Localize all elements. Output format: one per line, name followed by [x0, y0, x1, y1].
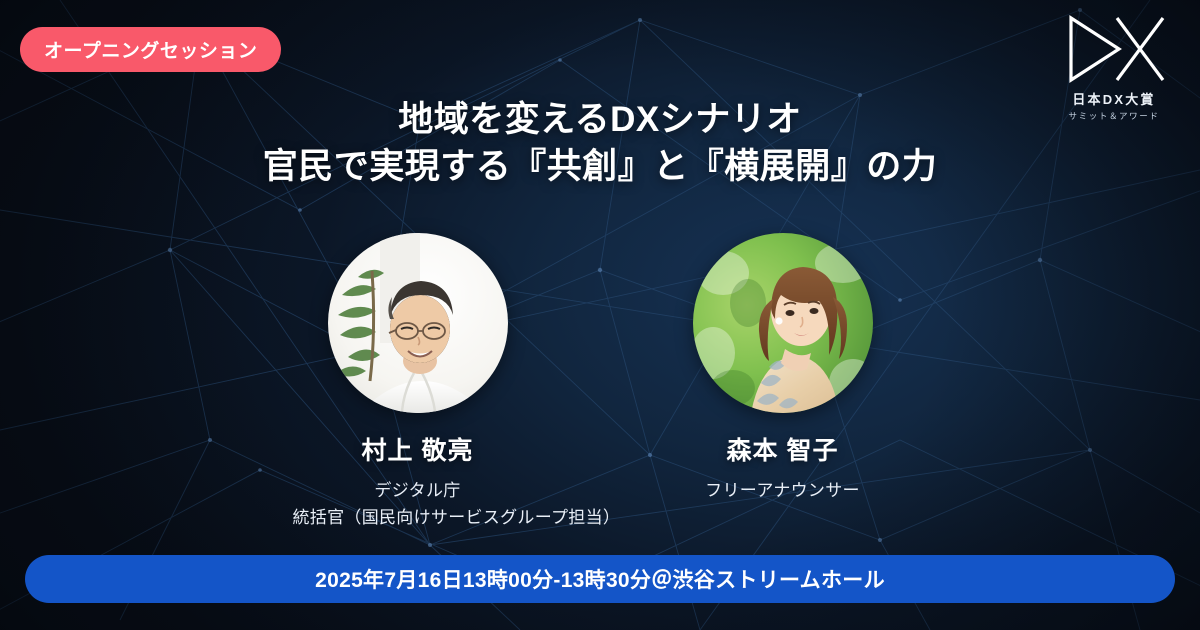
speaker-card: 村上 敬亮 デジタル庁 統括官（国民向けサービスグループ担当）: [293, 233, 543, 531]
speaker-role: フリーアナウンサー: [658, 477, 908, 504]
speaker-role-line1: フリーアナウンサー: [658, 477, 908, 504]
session-title: 地域を変えるDXシナリオ 官民で実現する『共創』と『横展開』の力: [0, 96, 1200, 190]
session-title-line2: 官民で実現する『共創』と『横展開』の力: [0, 143, 1200, 190]
event-datetime-text: 2025年7月16日13時00分-13時30分＠渋谷ストリームホール: [315, 564, 885, 594]
speaker-name: 村上 敬亮: [293, 431, 543, 467]
speaker-role: デジタル庁 統括官（国民向けサービスグループ担当）: [293, 477, 543, 531]
session-title-line1: 地域を変えるDXシナリオ: [0, 96, 1200, 143]
speaker-role-line1: デジタル庁: [293, 477, 543, 504]
dx-monogram-icon: [1059, 12, 1169, 86]
session-badge: オープニングセッション: [20, 27, 281, 72]
session-badge-label: オープニングセッション: [44, 36, 257, 63]
speaker-role-line2: 統括官（国民向けサービスグループ担当）: [293, 504, 543, 531]
speaker-photo-murakami: [328, 233, 508, 413]
event-datetime-banner: 2025年7月16日13時00分-13時30分＠渋谷ストリームホール: [25, 555, 1175, 603]
speaker-list: 村上 敬亮 デジタル庁 統括官（国民向けサービスグループ担当）: [0, 233, 1200, 531]
speaker-photo-morimoto: [693, 233, 873, 413]
event-poster: オープニングセッション 日本DX大賞 サミット＆アワード 地域を変えるDXシナリ…: [0, 0, 1200, 630]
speaker-name: 森本 智子: [658, 431, 908, 467]
speaker-card: 森本 智子 フリーアナウンサー: [658, 233, 908, 531]
